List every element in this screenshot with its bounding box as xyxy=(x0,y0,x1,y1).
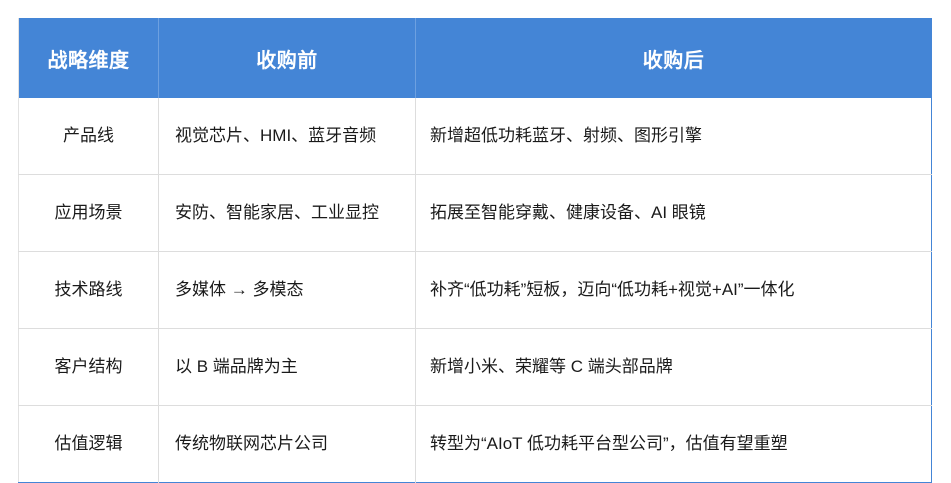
table-header-row: 战略维度 收购前 收购后 xyxy=(19,18,932,98)
header-after-acquisition: 收购后 xyxy=(416,18,932,98)
cell-after: 补齐“低功耗”短板，迈向“低功耗+视觉+AI”一体化 xyxy=(416,252,932,329)
table-body: 产品线 视觉芯片、HMI、蓝牙音频 新增超低功耗蓝牙、射频、图形引擎 应用场景 … xyxy=(19,98,932,483)
cell-after: 转型为“AIoT 低功耗平台型公司”，估值有望重塑 xyxy=(416,406,932,483)
header-strategic-dimension: 战略维度 xyxy=(19,18,159,98)
cell-before: 视觉芯片、HMI、蓝牙音频 xyxy=(159,98,416,175)
header-before-acquisition: 收购前 xyxy=(159,18,416,98)
cell-dimension: 产品线 xyxy=(19,98,159,175)
cell-after: 新增小米、荣耀等 C 端头部品牌 xyxy=(416,329,932,406)
table-row: 应用场景 安防、智能家居、工业显控 拓展至智能穿戴、健康设备、AI 眼镜 xyxy=(19,175,932,252)
comparison-table-container: 战略维度 收购前 收购后 产品线 视觉芯片、HMI、蓝牙音频 新增超低功耗蓝牙、… xyxy=(18,18,931,466)
table-row: 产品线 视觉芯片、HMI、蓝牙音频 新增超低功耗蓝牙、射频、图形引擎 xyxy=(19,98,932,175)
cell-before: 多媒体 → 多模态 xyxy=(159,252,416,329)
cell-before: 传统物联网芯片公司 xyxy=(159,406,416,483)
cell-after: 拓展至智能穿戴、健康设备、AI 眼镜 xyxy=(416,175,932,252)
cell-dimension: 客户结构 xyxy=(19,329,159,406)
cell-dimension: 应用场景 xyxy=(19,175,159,252)
strategy-comparison-table: 战略维度 收购前 收购后 产品线 视觉芯片、HMI、蓝牙音频 新增超低功耗蓝牙、… xyxy=(18,18,932,483)
table-row: 技术路线 多媒体 → 多模态 补齐“低功耗”短板，迈向“低功耗+视觉+AI”一体… xyxy=(19,252,932,329)
cell-before: 以 B 端品牌为主 xyxy=(159,329,416,406)
cell-dimension: 估值逻辑 xyxy=(19,406,159,483)
cell-before: 安防、智能家居、工业显控 xyxy=(159,175,416,252)
table-row: 估值逻辑 传统物联网芯片公司 转型为“AIoT 低功耗平台型公司”，估值有望重塑 xyxy=(19,406,932,483)
cell-after: 新增超低功耗蓝牙、射频、图形引擎 xyxy=(416,98,932,175)
table-header: 战略维度 收购前 收购后 xyxy=(19,18,932,98)
cell-dimension: 技术路线 xyxy=(19,252,159,329)
table-row: 客户结构 以 B 端品牌为主 新增小米、荣耀等 C 端头部品牌 xyxy=(19,329,932,406)
